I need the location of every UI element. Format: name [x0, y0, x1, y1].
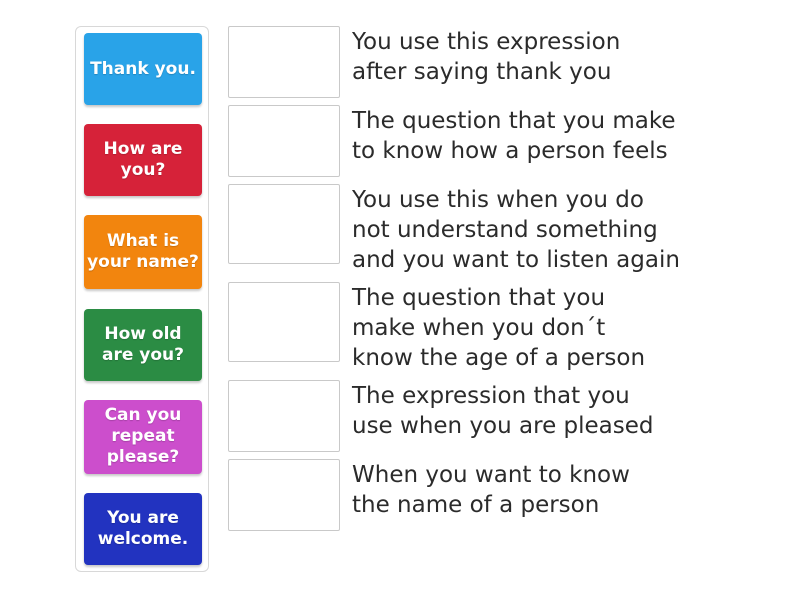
definition-text-4: The question that you make when you don´…: [352, 282, 645, 373]
answer-row: You use this when you do not understand …: [228, 184, 728, 275]
draggable-tile-5[interactable]: Can you repeat please?: [84, 400, 202, 474]
answer-row: The expression that you use when you are…: [228, 380, 728, 452]
definition-text-5: The expression that you use when you are…: [352, 380, 654, 441]
definition-text-3: You use this when you do not understand …: [352, 184, 680, 275]
draggable-tile-1[interactable]: Thank you.: [84, 33, 202, 105]
definition-text-2: The question that you make to know how a…: [352, 105, 676, 166]
definition-text-1: You use this expression after saying tha…: [352, 26, 620, 87]
draggable-tile-4[interactable]: How old are you?: [84, 309, 202, 381]
definition-text-6: When you want to know the name of a pers…: [352, 459, 630, 520]
answer-row: The question that you make when you don´…: [228, 282, 728, 373]
answer-rows: You use this expression after saying tha…: [228, 26, 728, 538]
dropzone-1[interactable]: [228, 26, 340, 98]
draggable-tile-2[interactable]: How are you?: [84, 124, 202, 196]
answer-row: The question that you make to know how a…: [228, 105, 728, 177]
answer-row: When you want to know the name of a pers…: [228, 459, 728, 531]
dropzone-2[interactable]: [228, 105, 340, 177]
answer-row: You use this expression after saying tha…: [228, 26, 728, 98]
draggable-tiles-panel: Thank you. How are you? What is your nam…: [75, 26, 209, 572]
dropzone-3[interactable]: [228, 184, 340, 264]
dropzone-5[interactable]: [228, 380, 340, 452]
dropzone-6[interactable]: [228, 459, 340, 531]
draggable-tile-6[interactable]: You are welcome.: [84, 493, 202, 565]
dropzone-4[interactable]: [228, 282, 340, 362]
tiles-stack: Thank you. How are you? What is your nam…: [84, 33, 200, 565]
draggable-tile-3[interactable]: What is your name?: [84, 215, 202, 289]
match-up-activity: Thank you. How are you? What is your nam…: [0, 0, 800, 600]
